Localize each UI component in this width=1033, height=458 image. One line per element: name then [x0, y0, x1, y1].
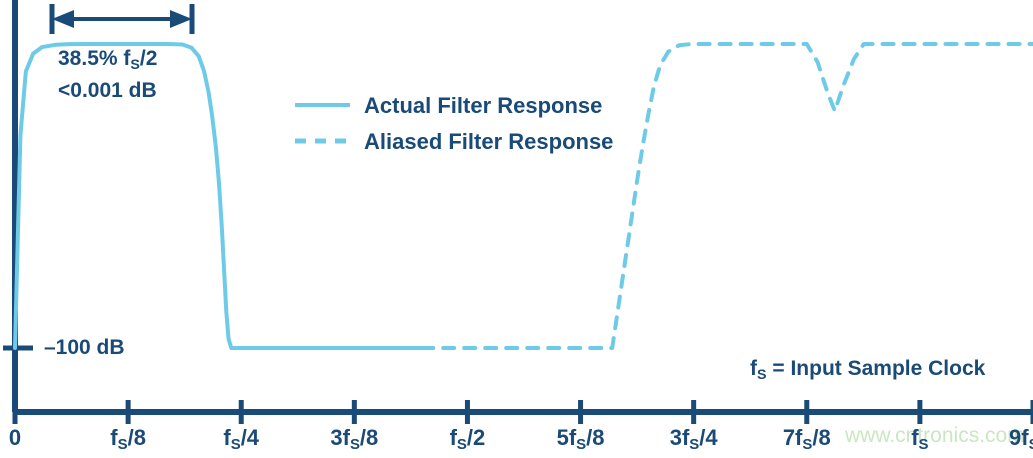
passband-annotation: 38.5% fS/2 <0.001 dB: [58, 46, 157, 103]
x-tick-label-5: 5fS/8: [557, 425, 605, 453]
x-tick-label-3: 3fS/8: [330, 425, 378, 453]
passband-annotation-line1: 38.5% fS/2: [58, 46, 157, 78]
floor-label: –100 dB: [44, 336, 125, 360]
x-tick-label-2: fS/4: [223, 425, 259, 453]
legend-label-aliased[interactable]: Aliased Filter Response: [364, 129, 613, 155]
x-tick-label-1: fS/8: [110, 425, 146, 453]
x-tick-label-7: 7fS/8: [783, 425, 831, 453]
watermark-text: www.cntronics.com: [845, 424, 1025, 448]
legend-swatches: [295, 105, 350, 141]
series-aliased-filter-response: [422, 44, 1033, 348]
fs-definition-note: fS = Input Sample Clock: [750, 357, 985, 383]
x-tick-label-8: fS: [911, 425, 928, 453]
series-group: [15, 44, 1033, 348]
passband-annotation-line2: <0.001 dB: [58, 78, 157, 103]
x-tick-label-6: 3fS/4: [670, 425, 718, 453]
x-tick-label-9: 9fS/8: [1009, 425, 1033, 453]
legend-label-actual[interactable]: Actual Filter Response: [364, 93, 602, 119]
passband-span-arrow: [52, 4, 192, 34]
x-tick-label-0: 0: [9, 425, 21, 451]
x-tick-label-4: fS/2: [450, 425, 486, 453]
chart-canvas: 38.5% fS/2 <0.001 dB –100 dB Actual Filt…: [0, 0, 1033, 458]
